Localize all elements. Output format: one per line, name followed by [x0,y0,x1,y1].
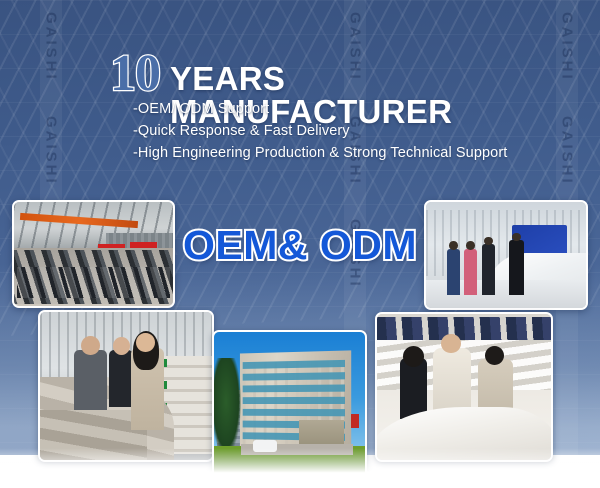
photo-person-head [441,334,460,353]
photo-person-head [136,333,155,352]
feature-item: -High Engineering Production & Strong Te… [133,145,563,161]
photo-person-head [485,346,504,365]
promotional-banner: GAISHI GAISHI GAISHI GAISHI GAISHI GAISH… [0,0,600,488]
feature-list: -OEM/ ODM Support -Quick Response & Fast… [133,101,563,161]
photo-person-head [81,336,100,355]
photo-person-staff [109,350,133,406]
photo-content [214,332,365,478]
years-number: 10 [110,48,160,100]
photo-person-woman [400,358,428,419]
photo-content [377,314,551,460]
photo-office-building-exterior [212,330,367,480]
feature-item: -OEM/ ODM Support [133,101,563,117]
feature-item: -Quick Response & Fast Delivery [133,123,563,139]
photo-tree [214,358,241,454]
photo-team-tarpaulin-inspection [375,312,553,462]
photo-white-car [253,440,277,452]
photo-red-sign [351,414,359,429]
photo-person-head [403,346,424,366]
photo-steel-profile-stack [17,267,170,298]
photo-content [40,312,212,460]
oem-odm-title: OEM& ODM [0,222,600,269]
photo-clients-fabric-rolls [38,310,214,462]
photo-navy-tarpaulin [377,317,551,340]
photo-person-client [74,350,107,409]
